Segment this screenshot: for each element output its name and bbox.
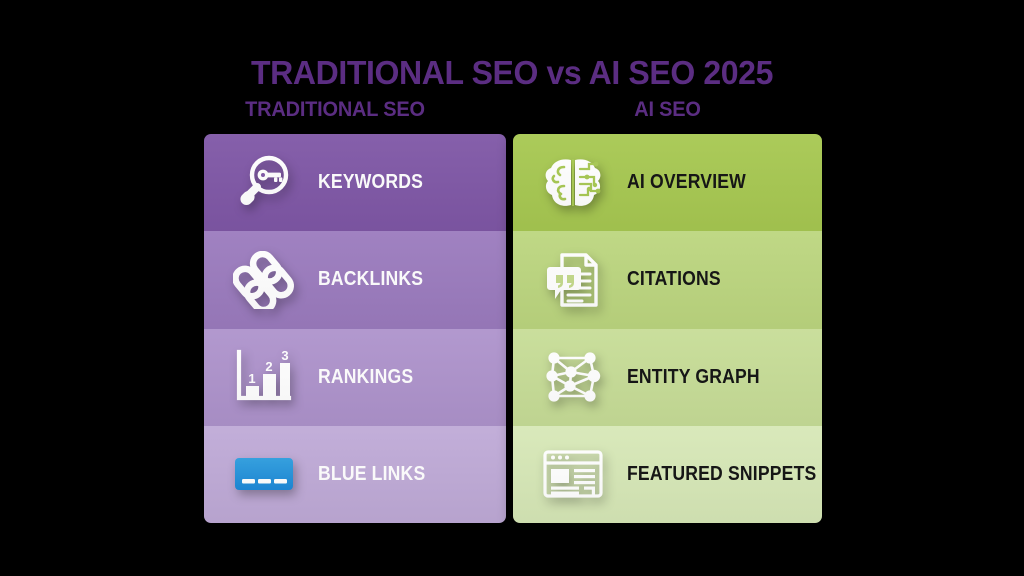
document-quote-icon	[531, 244, 615, 316]
column-heading-traditional: TRADITIONAL SEO	[211, 98, 460, 122]
page-title: TRADITIONAL SEO vs AI SEO 2025	[15, 54, 1008, 92]
row-label: KEYWORDS	[318, 171, 423, 194]
magnifier-key-icon	[222, 147, 306, 219]
row-label: ENTITY GRAPH	[627, 366, 760, 389]
row-ai-overview[interactable]: AI OVERVIEW	[513, 134, 822, 231]
bar-label-3: 3	[281, 348, 288, 363]
infographic-canvas: TRADITIONAL SEO vs AI SEO 2025 TRADITION…	[0, 0, 1024, 576]
row-citations[interactable]: CITATIONS	[513, 231, 822, 328]
row-label: RANKINGS	[318, 366, 413, 389]
row-label: AI OVERVIEW	[627, 171, 746, 194]
row-keywords[interactable]: KEYWORDS	[204, 134, 506, 231]
row-rankings[interactable]: 1 2 3 RANKINGS	[204, 329, 506, 426]
bar-chart-icon: 1 2 3	[222, 341, 306, 413]
node-network-icon	[531, 341, 615, 413]
browser-window-icon	[531, 438, 615, 510]
bar-label-1: 1	[248, 371, 255, 386]
row-label: BACKLINKS	[318, 268, 423, 291]
row-label: BLUE LINKS	[318, 463, 425, 486]
row-entity-graph[interactable]: ENTITY GRAPH	[513, 329, 822, 426]
row-blue-links[interactable]: BLUE LINKS	[204, 426, 506, 523]
row-featured-snippets[interactable]: FEATURED SNIPPETS	[513, 426, 822, 523]
ai-seo-panel: AI OVERVIEW	[513, 134, 822, 523]
chain-links-icon	[222, 244, 306, 316]
brain-circuit-icon	[531, 147, 615, 219]
bar-label-2: 2	[265, 359, 272, 374]
blue-links-icon	[222, 438, 306, 510]
row-label: CITATIONS	[627, 268, 721, 291]
row-label: FEATURED SNIPPETS	[627, 463, 816, 486]
row-backlinks[interactable]: BACKLINKS	[204, 231, 506, 328]
column-heading-ai: AI SEO	[521, 98, 815, 122]
traditional-seo-panel: KEYWORDS BACKLINKS	[204, 134, 506, 523]
